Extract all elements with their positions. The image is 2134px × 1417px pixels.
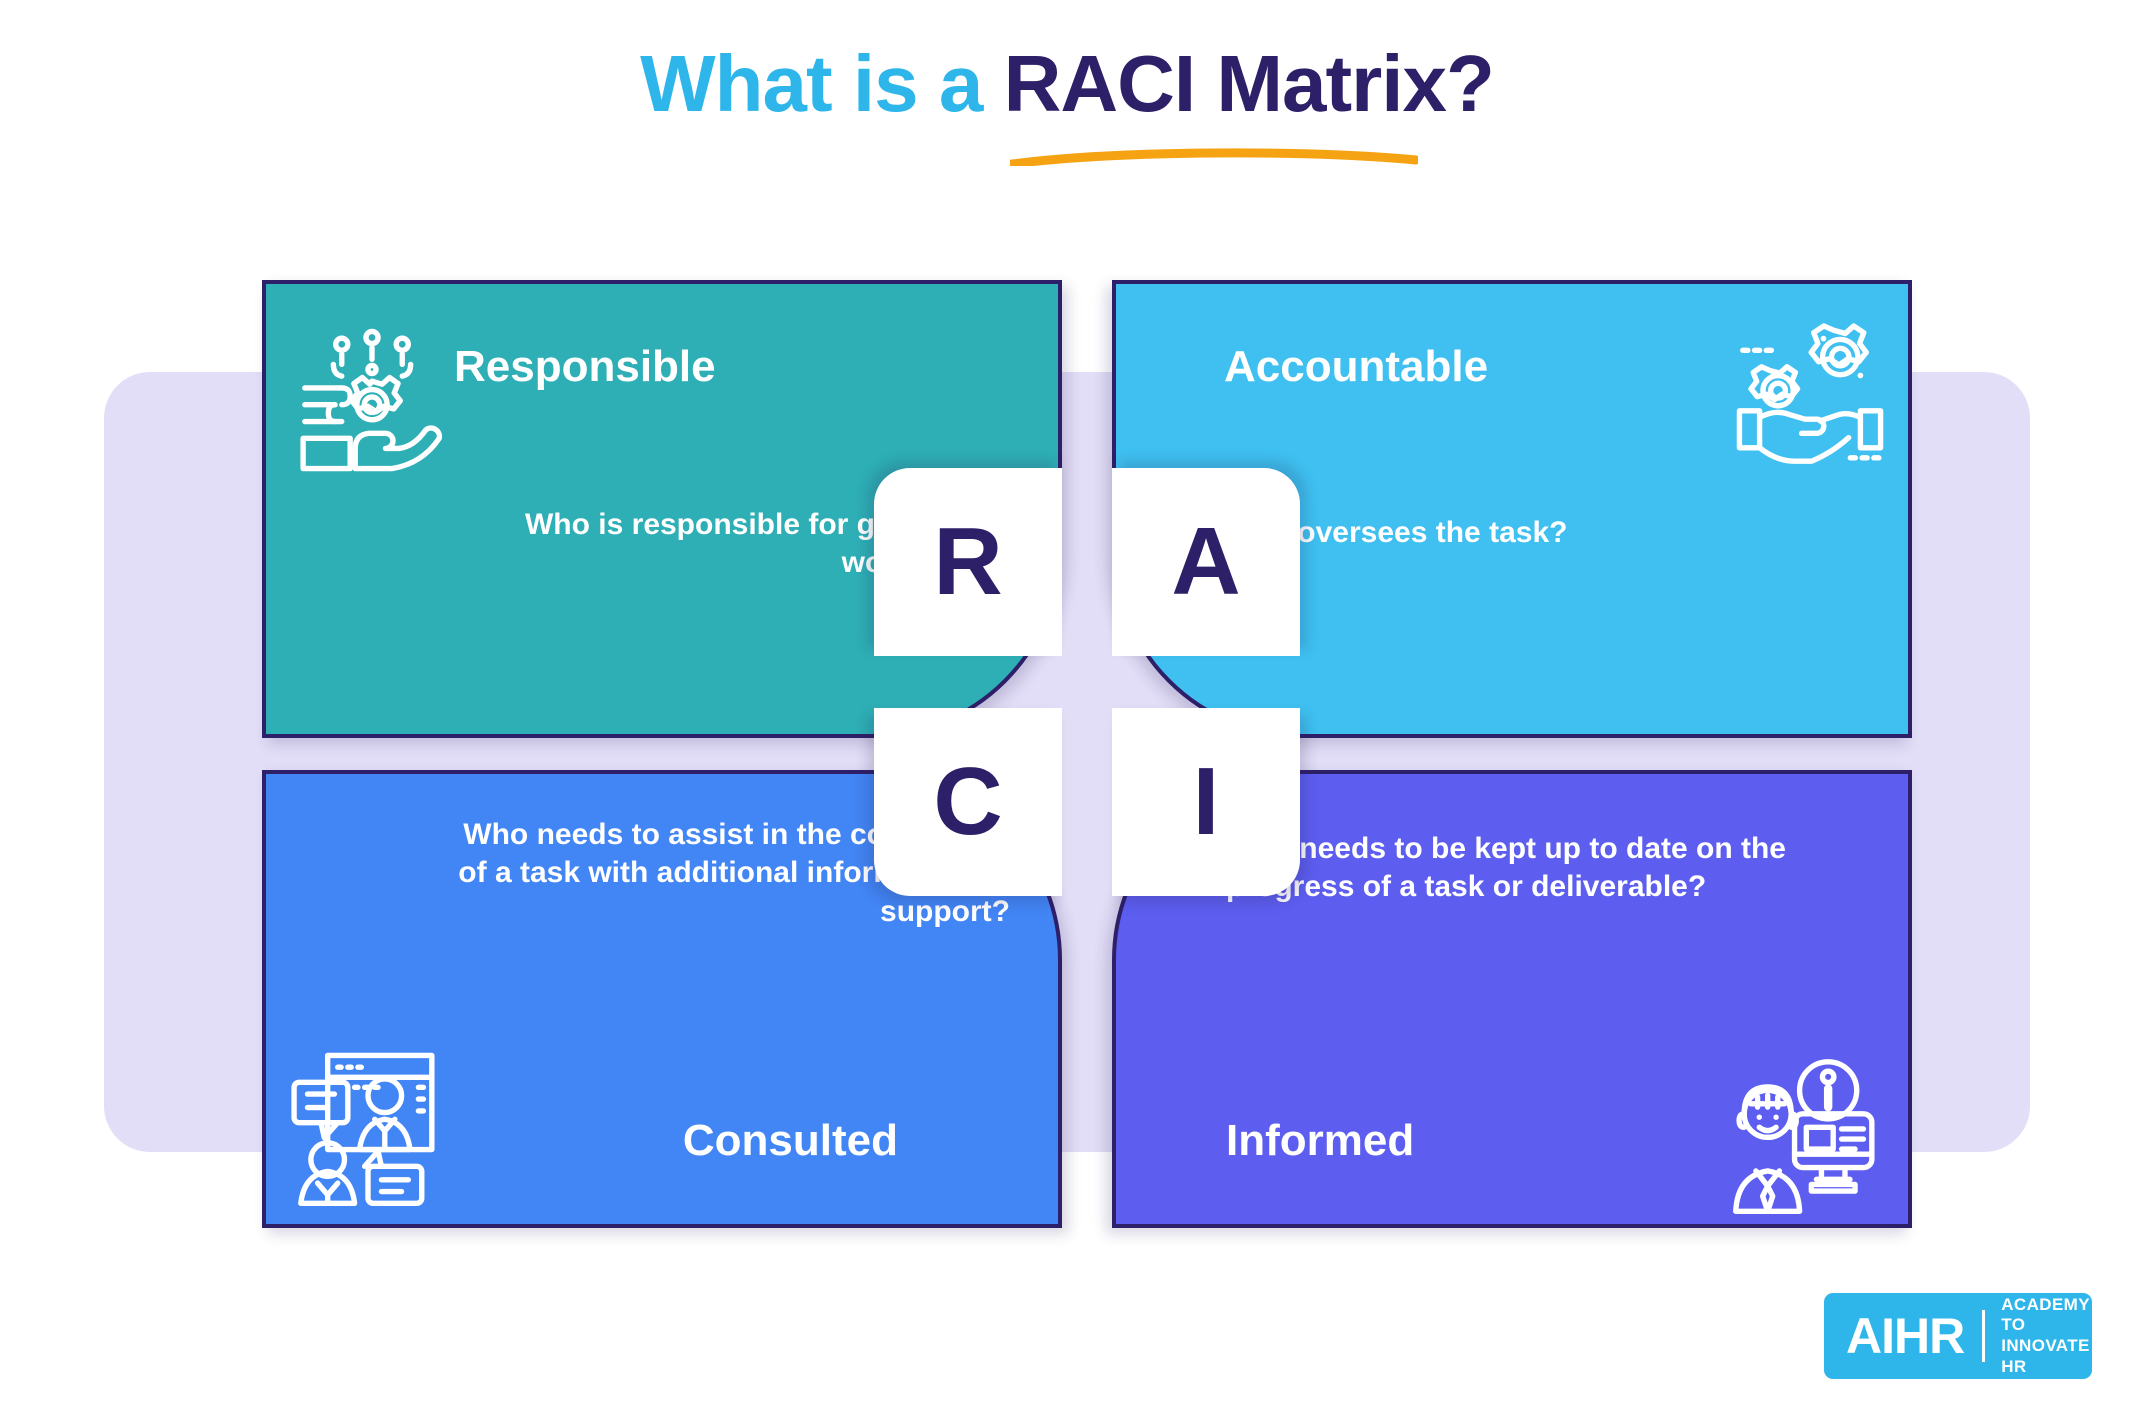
person-monitor-info-icon	[1724, 1050, 1892, 1218]
page-title-text: What is a RACI Matrix?	[640, 42, 1494, 126]
gear-in-hand-icon	[288, 314, 456, 482]
title-underline-swoosh	[1010, 148, 1418, 166]
logo-wordmark: AIHR	[1846, 1311, 1964, 1361]
letter-tile-c[interactable]: C	[874, 708, 1062, 896]
title-part-light: What is a	[640, 39, 1003, 128]
page-title: What is a RACI Matrix?	[0, 42, 2134, 126]
logo-tagline-line1: ACADEMY TO	[2001, 1295, 2090, 1336]
people-chat-screen-icon	[284, 1042, 452, 1210]
letter-tile-r[interactable]: R	[874, 468, 1062, 656]
quadrant-heading: Responsible	[454, 342, 716, 392]
raci-matrix: Responsible Who is responsible for getti…	[262, 280, 1912, 1228]
quadrant-heading: Consulted	[683, 1116, 898, 1166]
logo-tagline: ACADEMY TO INNOVATE HR	[2001, 1295, 2090, 1378]
logo-divider	[1982, 1310, 1985, 1362]
gears-handshake-icon	[1726, 310, 1894, 478]
quadrant-heading: Accountable	[1224, 342, 1488, 392]
quadrant-body: Who oversees the task?	[1224, 514, 1784, 552]
quadrant-heading: Informed	[1226, 1116, 1414, 1166]
aihr-logo[interactable]: AIHR ACADEMY TO INNOVATE HR	[1824, 1293, 2092, 1379]
letter-tile-a[interactable]: A	[1112, 468, 1300, 656]
letter-tile-i[interactable]: I	[1112, 708, 1300, 896]
title-part-dark: RACI Matrix?	[1004, 39, 1494, 128]
logo-tagline-line2: INNOVATE HR	[2001, 1336, 2090, 1377]
quadrant-body: Who needs to be kept up to date on the p…	[1226, 830, 1796, 907]
